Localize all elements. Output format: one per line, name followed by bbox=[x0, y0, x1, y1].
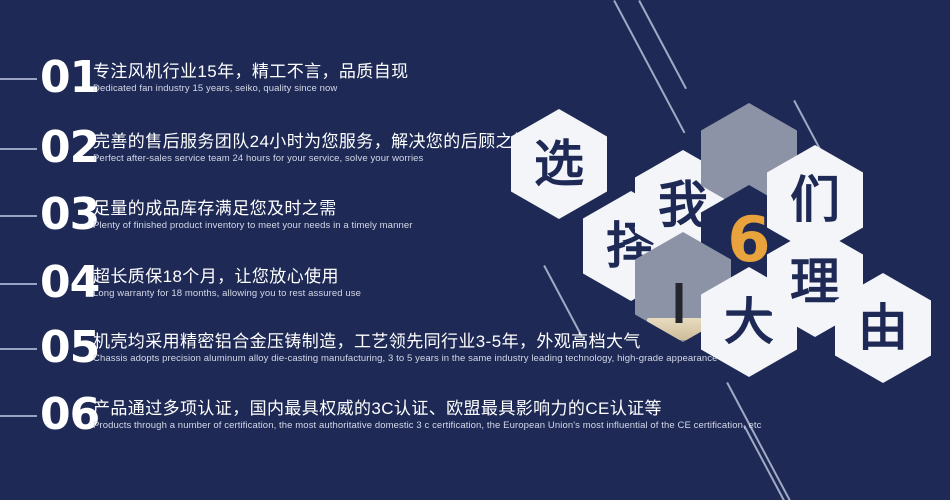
reason-number: 05 bbox=[40, 326, 90, 370]
reason-number: 04 bbox=[40, 261, 90, 305]
row-rule bbox=[0, 348, 37, 350]
headline-hex-cluster: 选 择 我 6 们 大 理 bbox=[495, 95, 950, 405]
reason-number: 06 bbox=[40, 393, 90, 437]
row-rule bbox=[0, 283, 37, 285]
reason-headline-cn: 足量的成品库存满足您及时之需 bbox=[93, 198, 412, 219]
reason-row: 04 超长质保18个月，让您放心使用 Long warranty for 18 … bbox=[0, 251, 361, 315]
reason-row: 03 足量的成品库存满足您及时之需 Plenty of finished pro… bbox=[0, 183, 412, 247]
reason-row: 02 完善的售后服务团队24小时为您服务，解决您的后顾之忧 Perfect af… bbox=[0, 116, 530, 180]
reason-subline-en: Long warranty for 18 months, allowing yo… bbox=[93, 288, 361, 300]
reason-number: 03 bbox=[40, 193, 90, 237]
reason-text-block: 超长质保18个月，让您放心使用 Long warranty for 18 mon… bbox=[93, 266, 361, 300]
reason-subline-en: Perfect after-sales service team 24 hour… bbox=[93, 153, 530, 165]
hex-glyph: 大 bbox=[724, 297, 774, 347]
reason-subline-en: Dedicated fan industry 15 years, seiko, … bbox=[93, 83, 409, 95]
hex-glyph: 理 bbox=[790, 257, 840, 307]
reason-headline-cn: 完善的售后服务团队24小时为您服务，解决您的后顾之忧 bbox=[93, 131, 530, 152]
hex-glyph: 选 bbox=[534, 139, 584, 189]
hex-glyph-six: 6 bbox=[727, 215, 770, 265]
row-rule bbox=[0, 148, 37, 150]
reason-number: 02 bbox=[40, 126, 90, 170]
hex-glyph: 们 bbox=[790, 175, 840, 225]
row-rule bbox=[0, 215, 37, 217]
reason-row: 01 专注风机行业15年，精工不言，品质自现 Dedicated fan ind… bbox=[0, 46, 409, 110]
reason-text-block: 足量的成品库存满足您及时之需 Plenty of finished produc… bbox=[93, 198, 412, 232]
decorative-diagonal-line bbox=[639, 0, 687, 89]
reason-headline-cn: 专注风机行业15年，精工不言，品质自现 bbox=[93, 61, 409, 82]
hex-glyph: 由 bbox=[858, 303, 908, 353]
reason-number: 01 bbox=[40, 56, 90, 100]
hex-tile-xuan: 选 bbox=[511, 109, 607, 219]
hex-glyph: 我 bbox=[658, 180, 708, 230]
reason-subline-en: Products through a number of certificati… bbox=[93, 420, 761, 432]
banner-root: 01 专注风机行业15年，精工不言，品质自现 Dedicated fan ind… bbox=[0, 0, 950, 500]
reason-text-block: 专注风机行业15年，精工不言，品质自现 Dedicated fan indust… bbox=[93, 61, 409, 95]
row-rule bbox=[0, 78, 37, 80]
reason-headline-cn: 超长质保18个月，让您放心使用 bbox=[93, 266, 361, 287]
reason-text-block: 完善的售后服务团队24小时为您服务，解决您的后顾之忧 Perfect after… bbox=[93, 131, 530, 165]
reason-subline-en: Plenty of finished product inventory to … bbox=[93, 220, 412, 232]
row-rule bbox=[0, 415, 37, 417]
